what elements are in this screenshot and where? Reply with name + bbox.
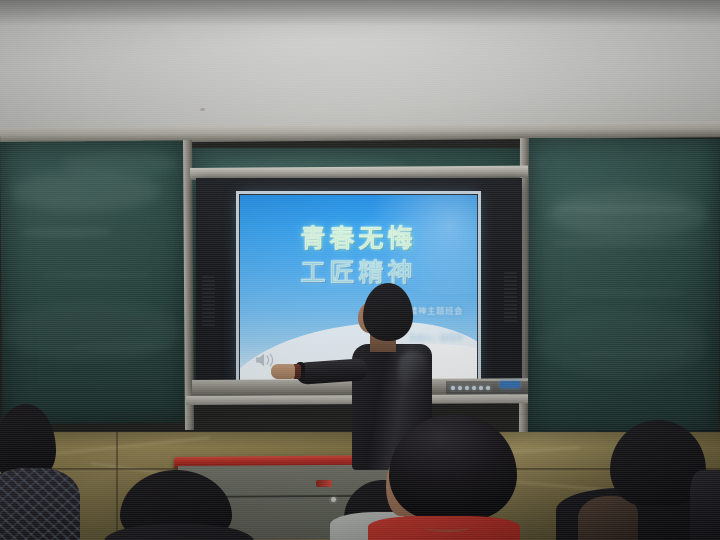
- presenter-head: [363, 283, 413, 341]
- slide-title-line-1: 青春无悔: [240, 219, 477, 255]
- podium-knob[interactable]: [331, 497, 336, 502]
- left-chalkboard: [0, 140, 188, 424]
- display-status-badge: [500, 381, 520, 388]
- presenter-hand: [271, 364, 295, 379]
- indicator-led: [479, 386, 483, 390]
- indicator-led: [472, 386, 476, 390]
- indicator-led: [465, 386, 469, 390]
- student-far-left-body: [0, 468, 80, 540]
- slide-title-line-2: 工匠精神: [240, 253, 477, 289]
- right-speaker-grille: [504, 272, 517, 322]
- indicator-led: [486, 386, 490, 390]
- indicator-led: [458, 386, 462, 390]
- indicator-led: [451, 386, 455, 390]
- presenter-jacket-highlight: [398, 352, 428, 388]
- left-speaker-grille: [202, 276, 215, 326]
- student-necklace: [424, 522, 470, 532]
- ceiling-shadow: [0, 0, 720, 26]
- slide-subtitle-line-2: 主讲人：张老师: [409, 333, 463, 343]
- podium-latch[interactable]: [316, 480, 332, 487]
- right-chalkboard: [527, 138, 720, 435]
- wall-scuff: [200, 108, 205, 111]
- student-far-right-body: [690, 470, 720, 540]
- classroom-photo: 青春无悔 工匠精神 关于工匠精神主题班会 主讲人：张老师: [0, 0, 720, 540]
